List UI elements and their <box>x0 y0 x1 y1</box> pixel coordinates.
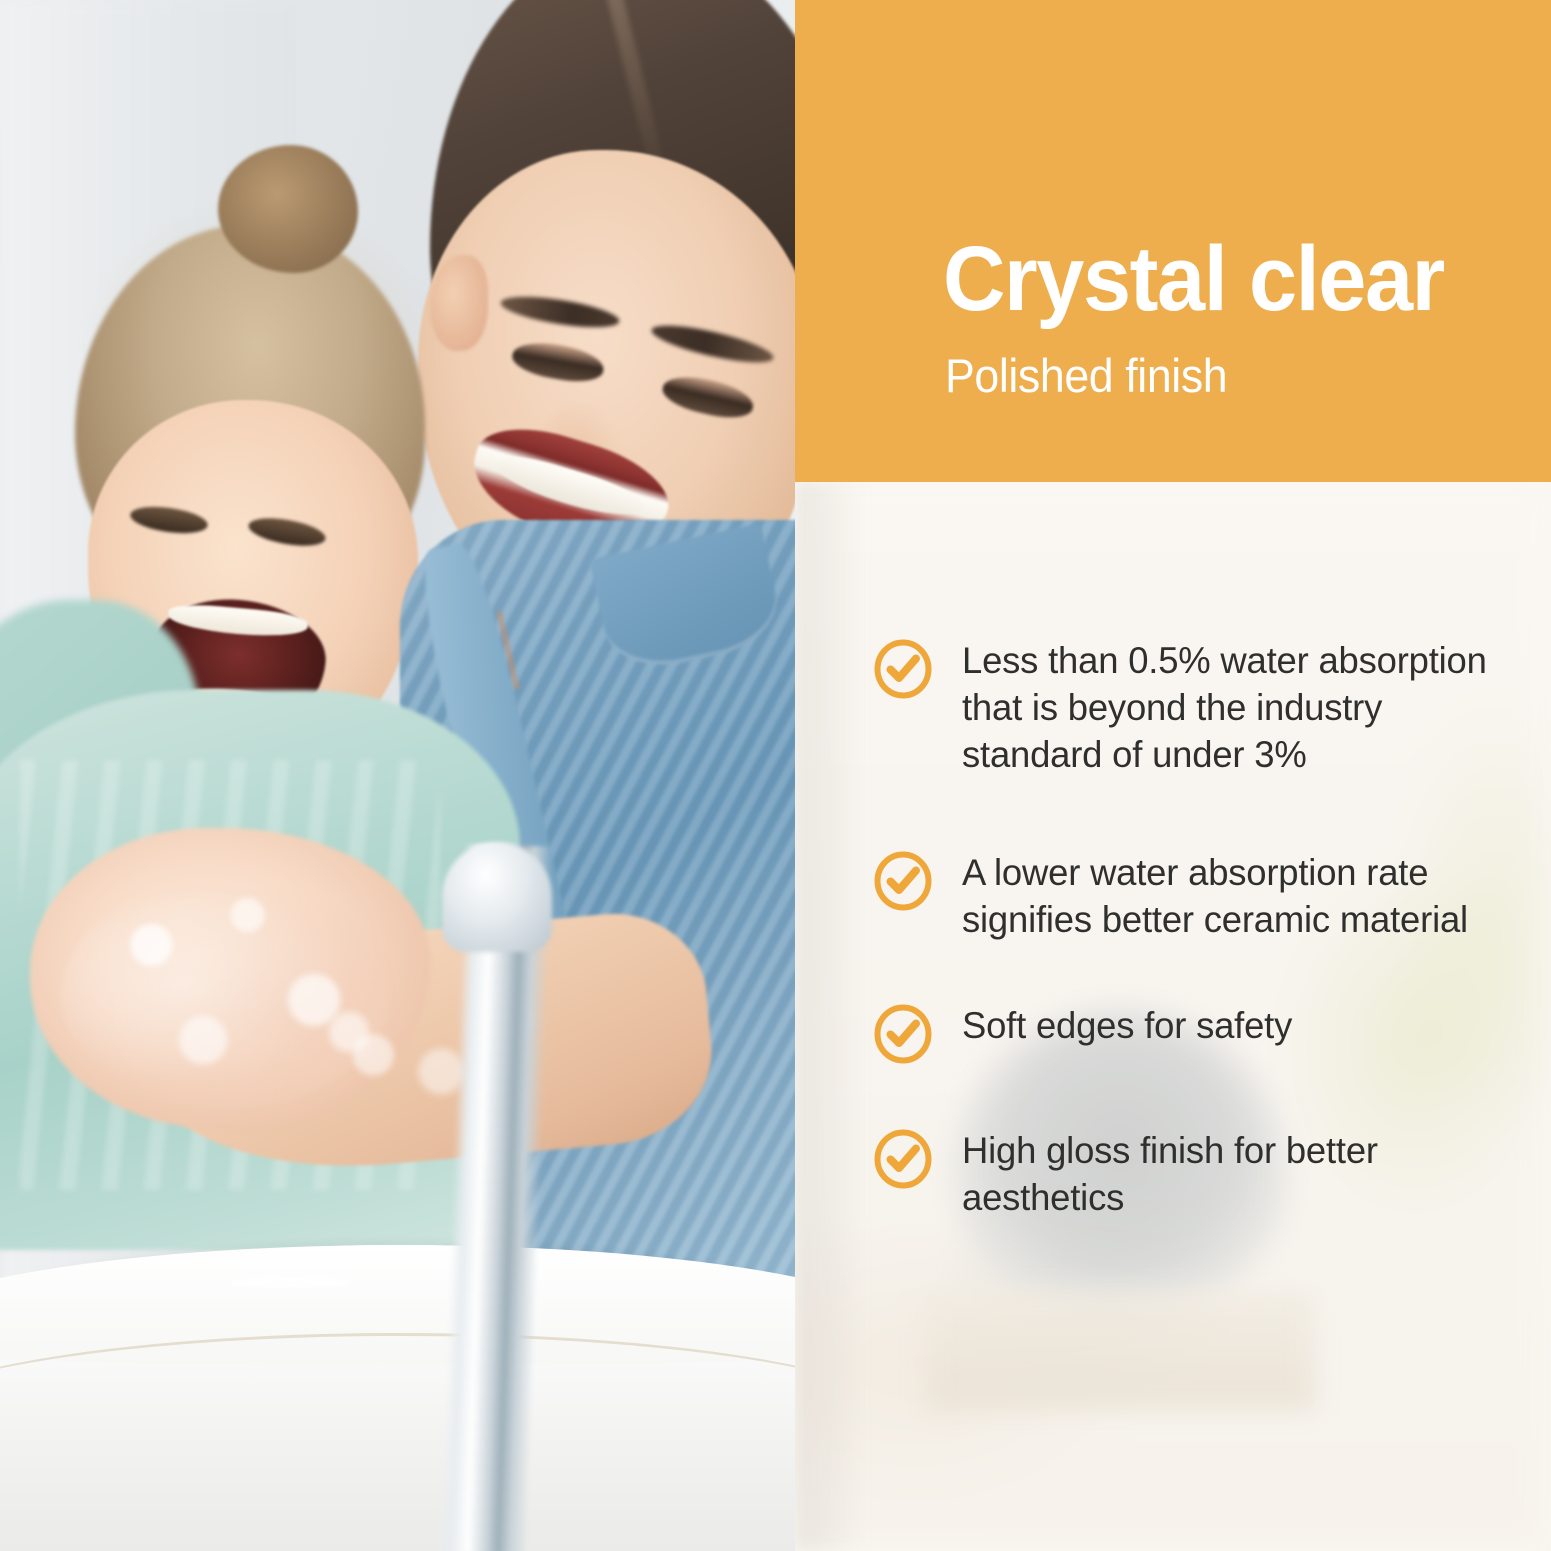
page-title: Crystal clear <box>943 233 1444 325</box>
panel-backdrop-counter <box>925 1290 1315 1410</box>
check-circle-icon <box>873 1129 933 1189</box>
info-panel: Crystal clear Polished finish Less than … <box>795 0 1551 1551</box>
feature-text: Less than 0.5% water absorption that is … <box>962 637 1524 778</box>
hero-banner: Crystal clear Polished finish <box>795 0 1551 482</box>
feature-item: Less than 0.5% water absorption that is … <box>873 637 1533 778</box>
photo-basin-edge-line <box>0 1333 795 1426</box>
check-circle-icon <box>873 639 933 699</box>
feature-text: High gloss finish for better aesthetics <box>962 1127 1524 1221</box>
panel-left-edge-shadow <box>795 482 865 1551</box>
feature-item: Soft edges for safety <box>873 1002 1533 1064</box>
feature-item: High gloss finish for better aesthetics <box>873 1127 1533 1221</box>
photo-basin-gloss-highlight <box>230 1278 350 1287</box>
lifestyle-photo <box>0 0 795 1551</box>
page-subtitle: Polished finish <box>945 352 1227 399</box>
check-circle-icon <box>873 851 933 911</box>
feature-text: A lower water absorption rate signifies … <box>962 849 1524 943</box>
check-circle-icon <box>873 1004 933 1064</box>
feature-item: A lower water absorption rate signifies … <box>873 849 1533 943</box>
photo-child-hair-bun <box>218 145 358 273</box>
product-feature-card: Crystal clear Polished finish Less than … <box>0 0 1551 1551</box>
photo-faucet-head <box>442 842 552 952</box>
feature-text: Soft edges for safety <box>962 1002 1292 1049</box>
